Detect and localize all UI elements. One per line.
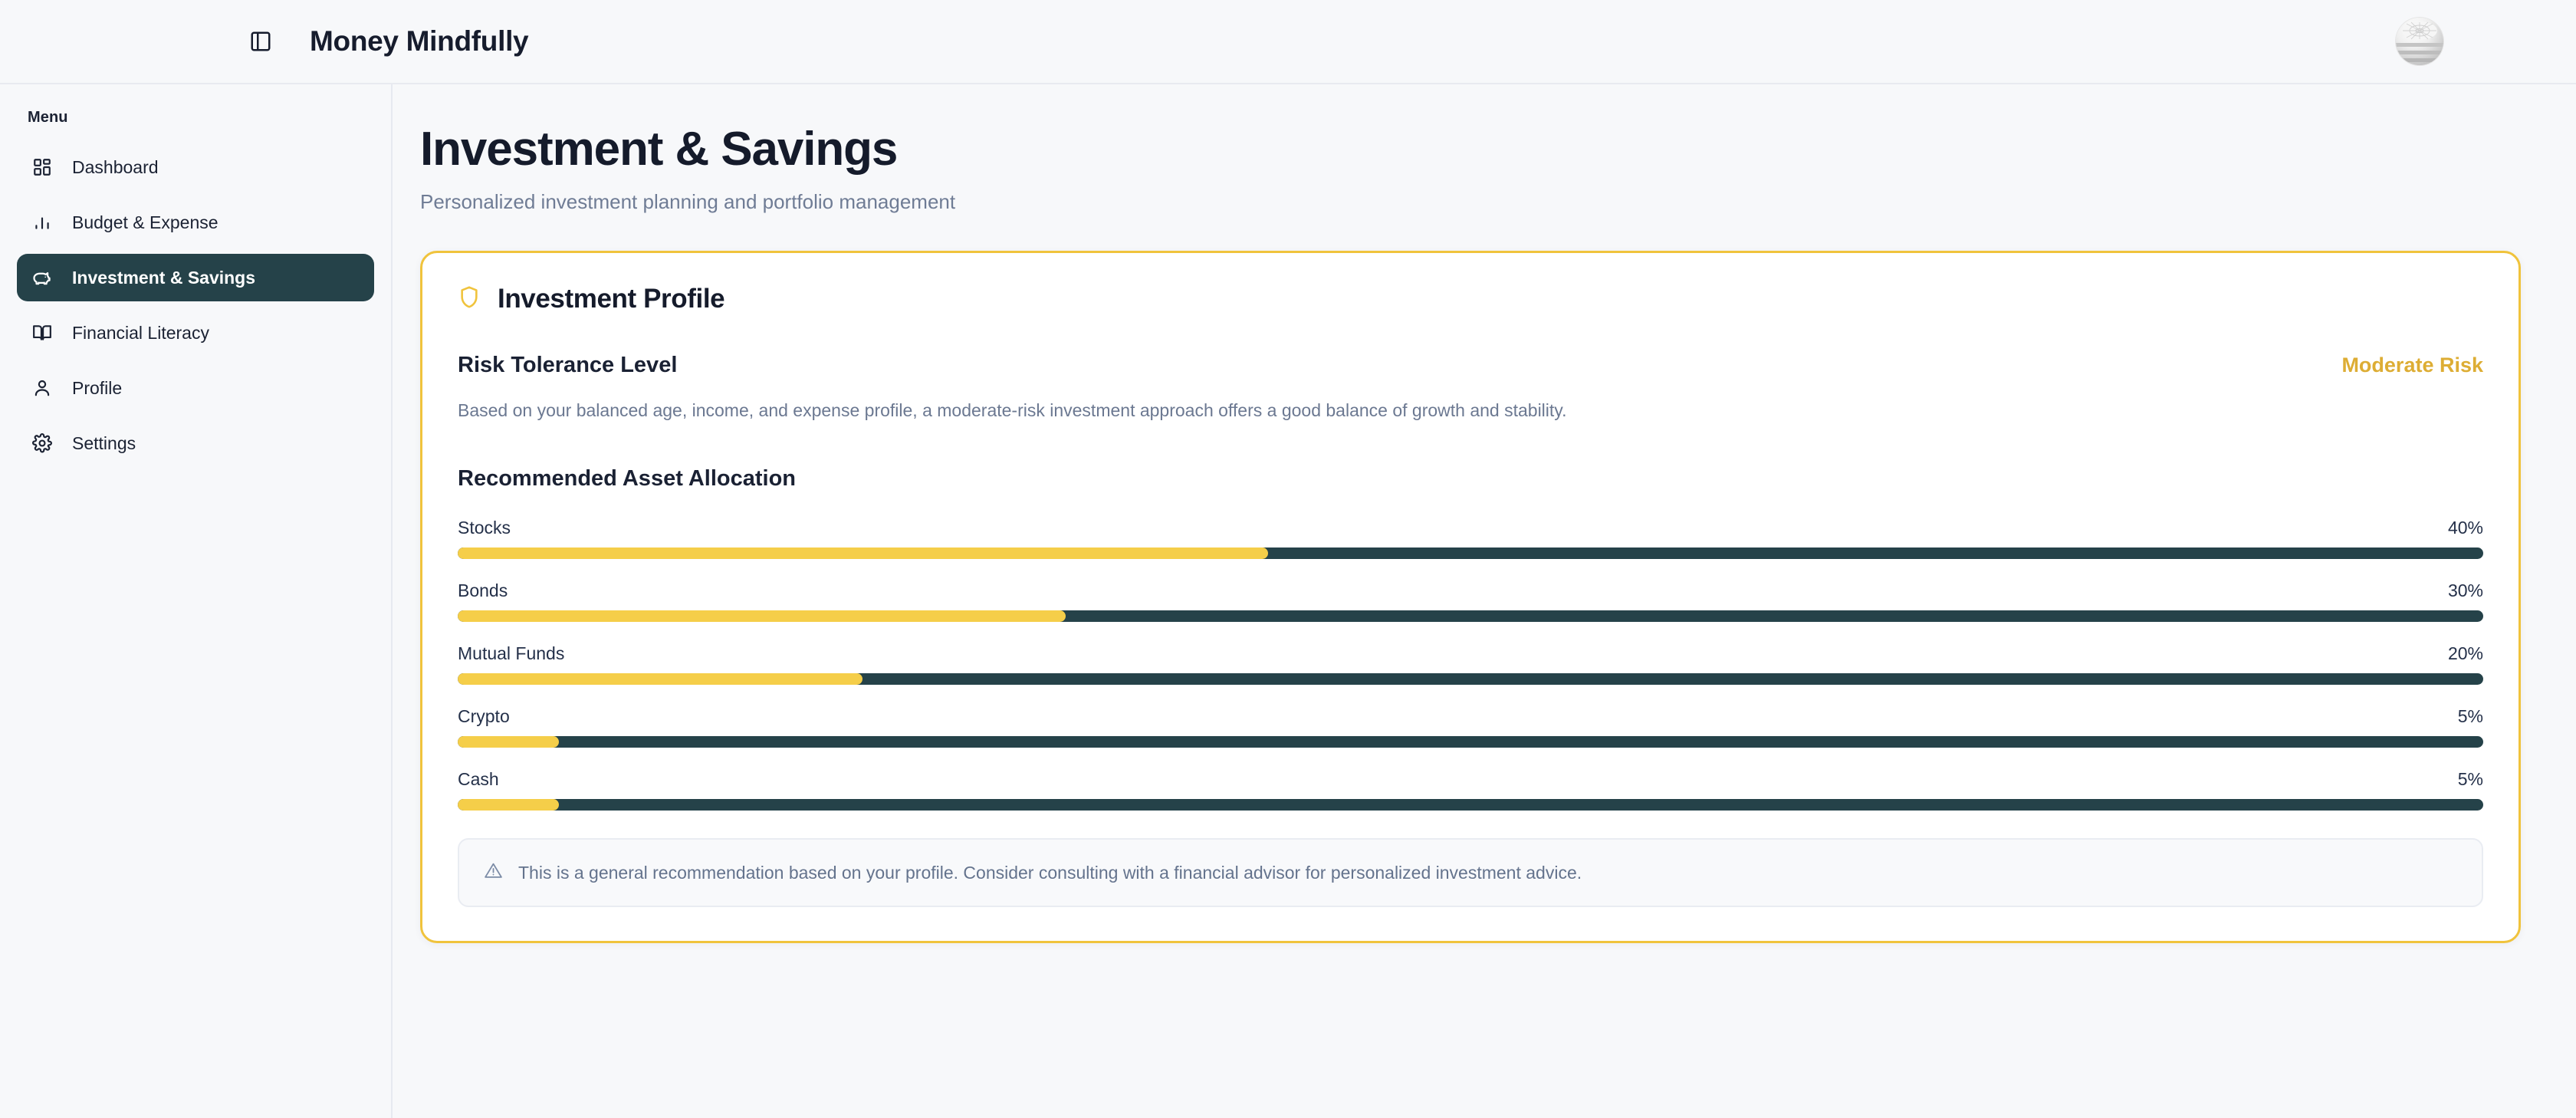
- allocation-row: Bonds 30%: [458, 580, 2483, 622]
- allocation-label: Stocks: [458, 518, 511, 538]
- alert-triangle-icon: [484, 861, 503, 884]
- allocation-bar-track: [458, 736, 2483, 748]
- disclaimer-note: This is a general recommendation based o…: [458, 838, 2483, 907]
- allocation-value: 5%: [2458, 706, 2483, 727]
- sidebar-item-label: Budget & Expense: [72, 212, 219, 233]
- gear-icon: [31, 432, 54, 455]
- sidebar-item-label: Profile: [72, 378, 122, 399]
- allocation-bar-fill: [458, 799, 559, 811]
- sidebar-item-label: Dashboard: [72, 157, 159, 178]
- allocation-bar-track: [458, 799, 2483, 811]
- shield-icon: [458, 285, 481, 314]
- sidebar-item-label: Investment & Savings: [72, 268, 255, 288]
- disclaimer-text: This is a general recommendation based o…: [518, 863, 1582, 883]
- sidebar-item-settings[interactable]: Settings: [17, 419, 374, 467]
- allocation-bar-fill: [458, 736, 559, 748]
- app-root: Money Mindfully: [0, 0, 2576, 1118]
- sidebar-section-label: Menu: [17, 109, 374, 127]
- allocation-value: 5%: [2458, 769, 2483, 790]
- grid-icon: [31, 156, 54, 179]
- sidebar-item-investment-savings[interactable]: Investment & Savings: [17, 254, 374, 301]
- risk-tolerance-row: Risk Tolerance Level Moderate Risk: [458, 353, 2483, 378]
- allocation-value: 20%: [2448, 643, 2483, 664]
- piggy-bank-icon: [31, 266, 54, 289]
- sidebar-item-profile[interactable]: Profile: [17, 364, 374, 412]
- app-body: Menu Dashboard Budget & Expense: [0, 84, 2576, 1118]
- bar-chart-icon: [31, 211, 54, 234]
- allocation-section-title: Recommended Asset Allocation: [458, 466, 2483, 492]
- allocation-bar-track: [458, 547, 2483, 559]
- allocation-bar-fill: [458, 547, 1268, 559]
- allocation-label: Bonds: [458, 580, 508, 601]
- top-bar: Money Mindfully: [0, 0, 2576, 84]
- allocation-value: 30%: [2448, 580, 2483, 601]
- page-title: Investment & Savings: [420, 124, 2521, 174]
- risk-description: Based on your balanced age, income, and …: [458, 398, 2483, 423]
- page-subtitle: Personalized investment planning and por…: [420, 190, 2521, 214]
- allocation-row: Cash 5%: [458, 769, 2483, 811]
- allocation-label: Crypto: [458, 706, 510, 727]
- allocation-row: Mutual Funds 20%: [458, 643, 2483, 685]
- app-brand-title: Money Mindfully: [310, 25, 528, 58]
- book-open-icon: [31, 321, 54, 344]
- allocation-value: 40%: [2448, 518, 2483, 538]
- allocation-label: Mutual Funds: [458, 643, 564, 664]
- sidebar-item-budget-expense[interactable]: Budget & Expense: [17, 199, 374, 246]
- allocation-bar-fill: [458, 610, 1066, 622]
- user-icon: [31, 377, 54, 400]
- sidebar-item-dashboard[interactable]: Dashboard: [17, 143, 374, 191]
- sidebar-item-label: Settings: [72, 433, 136, 454]
- allocation-bar-list: Stocks 40% Bonds 30%: [458, 518, 2483, 811]
- sidebar-item-financial-literacy[interactable]: Financial Literacy: [17, 309, 374, 357]
- risk-tolerance-label: Risk Tolerance Level: [458, 353, 677, 378]
- card-header: Investment Profile: [458, 284, 2483, 314]
- allocation-label: Cash: [458, 769, 499, 790]
- avatar[interactable]: [2396, 18, 2443, 65]
- allocation-bar-track: [458, 610, 2483, 622]
- allocation-row: Crypto 5%: [458, 706, 2483, 748]
- card-title: Investment Profile: [498, 284, 724, 314]
- main-content: Investment & Savings Personalized invest…: [393, 84, 2576, 1118]
- investment-profile-card: Investment Profile Risk Tolerance Level …: [420, 251, 2521, 943]
- sidebar-toggle-icon[interactable]: [244, 25, 278, 58]
- sidebar: Menu Dashboard Budget & Expense: [0, 84, 393, 1118]
- sidebar-item-label: Financial Literacy: [72, 323, 209, 344]
- allocation-bar-track: [458, 673, 2483, 685]
- risk-status-badge: Moderate Risk: [2341, 353, 2483, 377]
- allocation-bar-fill: [458, 673, 863, 685]
- allocation-row: Stocks 40%: [458, 518, 2483, 559]
